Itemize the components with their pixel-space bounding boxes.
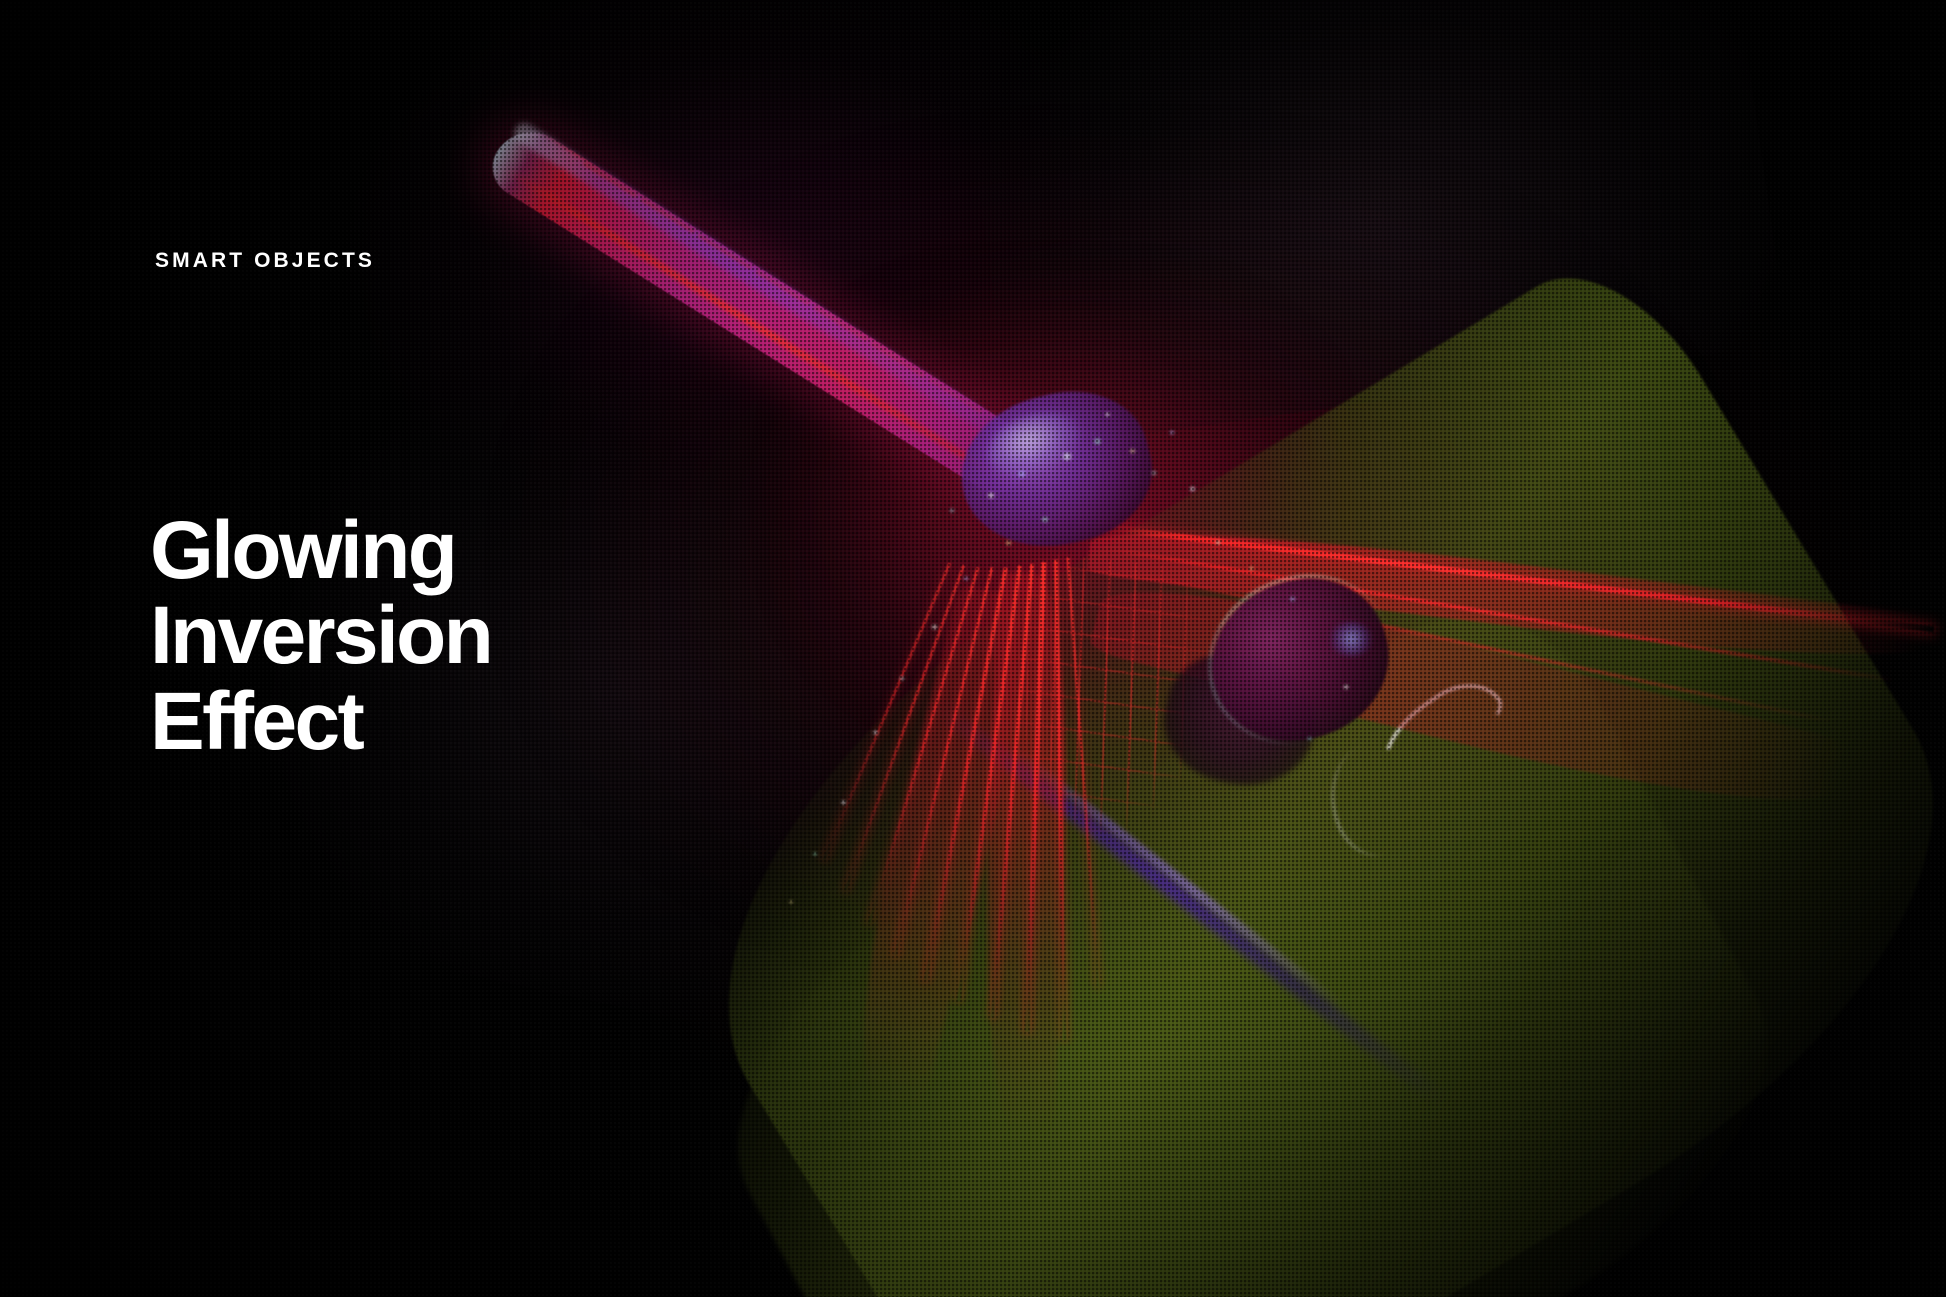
page-title-line-3: Effect [150,679,491,764]
page-title-line-2: Inversion [150,593,491,678]
eyebrow-label: SMART OBJECTS [155,250,375,271]
poster-canvas: SMART OBJECTS GlowingInversionEffect [0,0,1946,1297]
page-title: GlowingInversionEffect [150,508,491,764]
page-title-line-1: Glowing [150,508,491,593]
